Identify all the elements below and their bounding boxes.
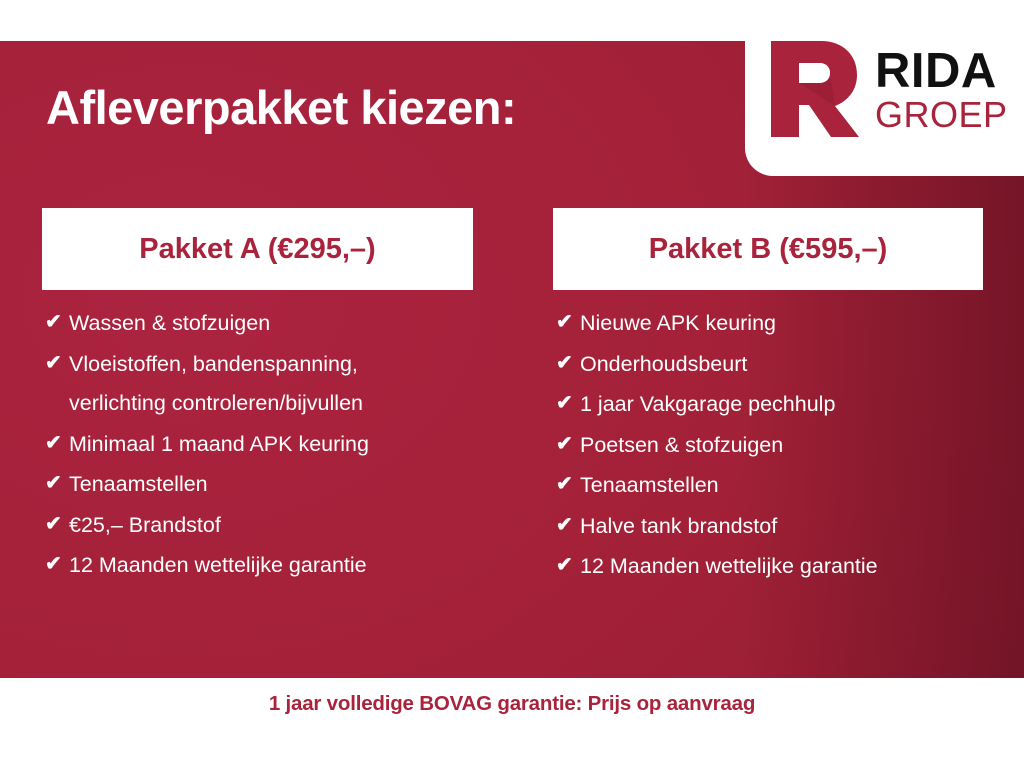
check-icon: ✔ <box>553 385 580 422</box>
page-title: Afleverpakket kiezen: <box>46 82 516 134</box>
list-item: ✔ Nieuwe APK keuring <box>553 304 983 344</box>
list-item-label: Nieuwe APK keuring <box>580 304 983 344</box>
list-item: ✔ Tenaamstellen <box>553 466 983 506</box>
check-icon: ✔ <box>553 345 580 382</box>
list-item-label: 12 Maanden wettelijke garantie <box>580 547 983 587</box>
list-item-label: Onderhoudsbeurt <box>580 345 983 385</box>
list-item: ✔ Wassen & stofzuigen <box>42 304 473 344</box>
package-a-title: Pakket A (€295,–) <box>42 208 473 290</box>
list-item-label: Halve tank brandstof <box>580 507 983 547</box>
check-icon: ✔ <box>553 466 580 503</box>
list-item-label: Minimaal 1 maand APK keuring <box>69 425 473 465</box>
footer-text: 1 jaar volledige BOVAG garantie: Prijs o… <box>269 692 755 716</box>
check-icon: ✔ <box>553 507 580 544</box>
list-item-label: €25,– Brandstof <box>69 506 473 546</box>
list-item-label: Poetsen & stofzuigen <box>580 426 983 466</box>
promo-slide: Afleverpakket kiezen: RIDA GROEP Pakket … <box>0 0 1024 768</box>
list-item: ✔ Halve tank brandstof <box>553 507 983 547</box>
list-item-label: Wassen & stofzuigen <box>69 304 473 344</box>
check-icon: ✔ <box>42 546 69 583</box>
list-item-label: Vloeistoffen, bandenspanning, verlichtin… <box>69 345 473 424</box>
list-item: ✔ Onderhoudsbeurt <box>553 345 983 385</box>
check-icon: ✔ <box>42 506 69 543</box>
check-icon: ✔ <box>42 345 69 382</box>
list-item: ✔ 12 Maanden wettelijke garantie <box>42 546 473 586</box>
list-item-label: 1 jaar Vakgarage pechhulp <box>580 385 983 425</box>
package-b-title: Pakket B (€595,–) <box>553 208 983 290</box>
list-item: ✔ 1 jaar Vakgarage pechhulp <box>553 385 983 425</box>
package-b-feature-list: ✔ Nieuwe APK keuring ✔ Onderhoudsbeurt ✔… <box>553 304 983 587</box>
package-a-feature-list: ✔ Wassen & stofzuigen ✔ Vloeistoffen, ba… <box>42 304 473 586</box>
check-icon: ✔ <box>553 426 580 463</box>
package-column-b: Pakket B (€595,–) ✔ Nieuwe APK keuring ✔… <box>553 208 983 588</box>
check-icon: ✔ <box>42 304 69 341</box>
logo-secondary-text: GROEP <box>875 96 1008 134</box>
footer-bar: 1 jaar volledige BOVAG garantie: Prijs o… <box>0 678 1024 768</box>
package-column-a: Pakket A (€295,–) ✔ Wassen & stofzuigen … <box>42 208 473 587</box>
list-item: ✔ Minimaal 1 maand APK keuring <box>42 425 473 465</box>
check-icon: ✔ <box>42 465 69 502</box>
list-item-label: 12 Maanden wettelijke garantie <box>69 546 473 586</box>
logo-wordmark: RIDA GROEP <box>875 47 1008 134</box>
check-icon: ✔ <box>42 425 69 462</box>
list-item-label: Tenaamstellen <box>69 465 473 505</box>
brand-logo-panel: RIDA GROEP <box>745 0 1024 176</box>
list-item-label: Tenaamstellen <box>580 466 983 506</box>
list-item: ✔ Tenaamstellen <box>42 465 473 505</box>
check-icon: ✔ <box>553 547 580 584</box>
logo-primary-text: RIDA <box>875 47 1008 95</box>
list-item: ✔ Poetsen & stofzuigen <box>553 426 983 466</box>
list-item: ✔ €25,– Brandstof <box>42 506 473 546</box>
list-item: ✔ Vloeistoffen, bandenspanning, verlicht… <box>42 345 473 424</box>
check-icon: ✔ <box>553 304 580 341</box>
rida-r-monogram-icon <box>759 33 871 145</box>
list-item: ✔ 12 Maanden wettelijke garantie <box>553 547 983 587</box>
